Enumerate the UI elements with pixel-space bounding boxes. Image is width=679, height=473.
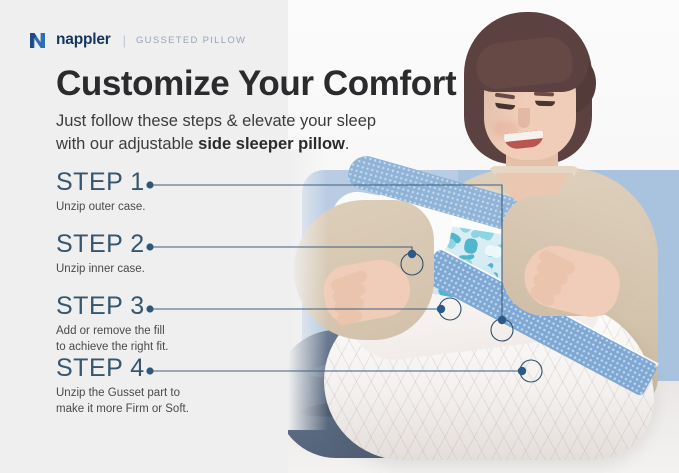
brand-tagline: GUSSETED PILLOW xyxy=(136,35,246,46)
step-3-title: STEP 3 xyxy=(56,294,169,319)
panel-left-fade xyxy=(288,150,328,430)
subtitle: Just follow these steps & elevate your s… xyxy=(56,110,456,157)
step-1-title: STEP 1 xyxy=(56,170,146,195)
dot-step-1 xyxy=(146,181,153,188)
step-2-description: Unzip inner case. xyxy=(56,262,145,278)
nappler-n-logo-icon xyxy=(28,30,48,50)
step-item-3: STEP 3 Add or remove the fill to achieve… xyxy=(56,294,169,356)
subtitle-line1: Just follow these steps & elevate your s… xyxy=(56,112,376,130)
subtitle-highlight: side sleeper pillow xyxy=(198,135,345,153)
brand-lockup: nappler | GUSSETED PILLOW xyxy=(28,30,246,50)
step-item-2: STEP 2 Unzip inner case. xyxy=(56,232,145,278)
step-item-4: STEP 4 Unzip the Gusset part to make it … xyxy=(56,356,189,418)
step-4-description: Unzip the Gusset part to make it more Fi… xyxy=(56,386,189,418)
step-4-title: STEP 4 xyxy=(56,356,189,381)
step-3-description: Add or remove the fill to achieve the ri… xyxy=(56,324,169,356)
infographic-page: nappler | GUSSETED PILLOW Customize Your… xyxy=(0,0,679,473)
step-2-title: STEP 2 xyxy=(56,232,145,257)
brand-name: nappler xyxy=(56,31,111,49)
dot-step-2 xyxy=(146,243,153,250)
step-item-1: STEP 1 Unzip outer case. xyxy=(56,170,146,216)
subtitle-line2-suffix: . xyxy=(345,135,350,153)
step-1-description: Unzip outer case. xyxy=(56,200,146,216)
subtitle-line2-prefix: with our adjustable xyxy=(56,135,198,153)
page-title: Customize Your Comfort xyxy=(56,64,456,104)
brand-separator: | xyxy=(123,33,126,48)
